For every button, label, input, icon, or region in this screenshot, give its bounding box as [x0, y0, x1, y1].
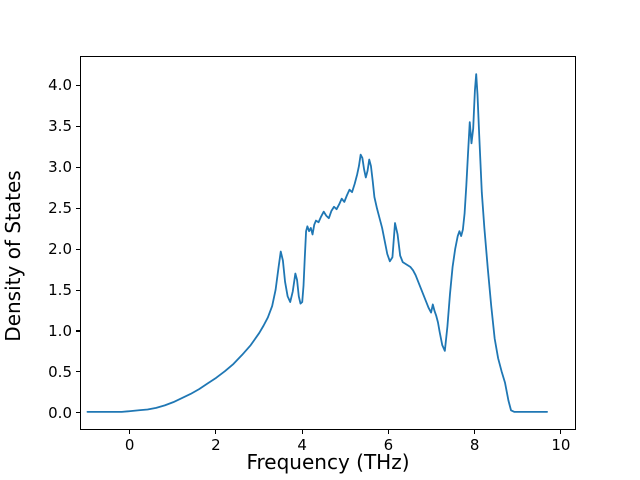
y-tick-mark — [76, 85, 80, 86]
plot-area — [80, 56, 576, 430]
y-tick-label: 0.5 — [48, 363, 72, 381]
y-tick-label: 3.5 — [48, 117, 72, 135]
y-tick-label: 0.0 — [48, 404, 72, 422]
y-tick-label: 1.0 — [48, 322, 72, 340]
y-tick-mark — [76, 208, 80, 209]
x-axis-label: Frequency (THz) — [80, 450, 576, 474]
y-axis-label: Density of States — [0, 69, 26, 443]
y-tick-mark — [76, 249, 80, 250]
x-tick-mark — [215, 430, 216, 434]
y-tick-label: 3.0 — [48, 158, 72, 176]
y-tick-mark — [76, 412, 80, 413]
y-tick-label: 2.0 — [48, 240, 72, 258]
y-tick-mark — [76, 290, 80, 291]
y-tick-mark — [76, 126, 80, 127]
x-tick-mark — [388, 430, 389, 434]
x-tick-mark — [302, 430, 303, 434]
x-tick-mark — [474, 430, 475, 434]
y-tick-label: 1.5 — [48, 281, 72, 299]
dos-polyline — [87, 74, 547, 412]
y-tick-mark — [76, 371, 80, 372]
y-tick-label: 2.5 — [48, 199, 72, 217]
y-tick-mark — [76, 167, 80, 168]
x-tick-mark — [129, 430, 130, 434]
dos-chart-figure: 0.00.51.01.52.02.53.03.54.0 0246810 Dens… — [0, 0, 640, 480]
x-tick-mark — [560, 430, 561, 434]
y-tick-label: 4.0 — [48, 76, 72, 94]
y-tick-mark — [76, 330, 80, 331]
dos-curve — [81, 57, 575, 429]
